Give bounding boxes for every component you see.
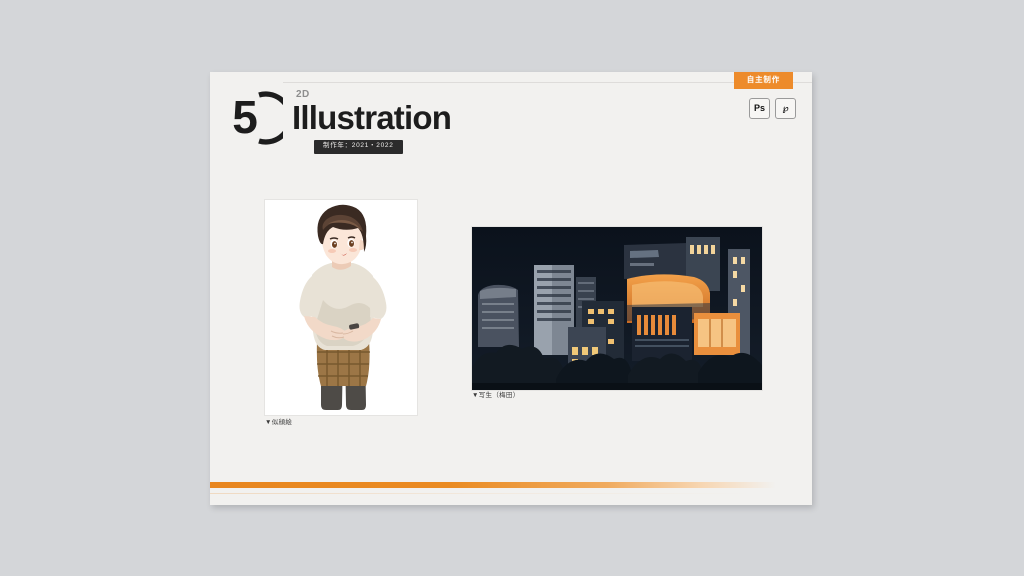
footer-accent-bar xyxy=(210,482,812,488)
cityscape-artwork xyxy=(472,227,762,390)
footer-accent-bar-thin xyxy=(210,493,812,494)
production-year-bar: 制作年：2021・2022 xyxy=(314,140,403,154)
tool-icon-group: Ps ℘ xyxy=(749,98,796,119)
cityscape-illustration xyxy=(472,227,762,390)
section-number-mark: 5 xyxy=(215,87,283,149)
photoshop-icon: Ps xyxy=(749,98,770,119)
header-divider-line xyxy=(283,82,812,83)
section-number-text: 5 xyxy=(232,91,258,143)
presentation-slide: 自主制作 5 2D Illustration 制作年：2021・2022 Ps … xyxy=(210,72,812,505)
cityscape-caption: ▼写生（梅田） xyxy=(472,393,520,400)
portrait-illustration xyxy=(265,200,417,415)
status-badge-self-produced: 自主制作 xyxy=(734,72,793,89)
cityscape-illustration-frame xyxy=(472,227,762,390)
portrait-artwork xyxy=(265,200,417,415)
portrait-caption: ▼似顔絵 xyxy=(265,420,292,427)
portrait-illustration-frame xyxy=(265,200,417,415)
page-title: Illustration xyxy=(292,101,451,134)
clip-studio-paint-icon: ℘ xyxy=(775,98,796,119)
page-title-block: 2D Illustration 制作年：2021・2022 xyxy=(292,90,451,154)
